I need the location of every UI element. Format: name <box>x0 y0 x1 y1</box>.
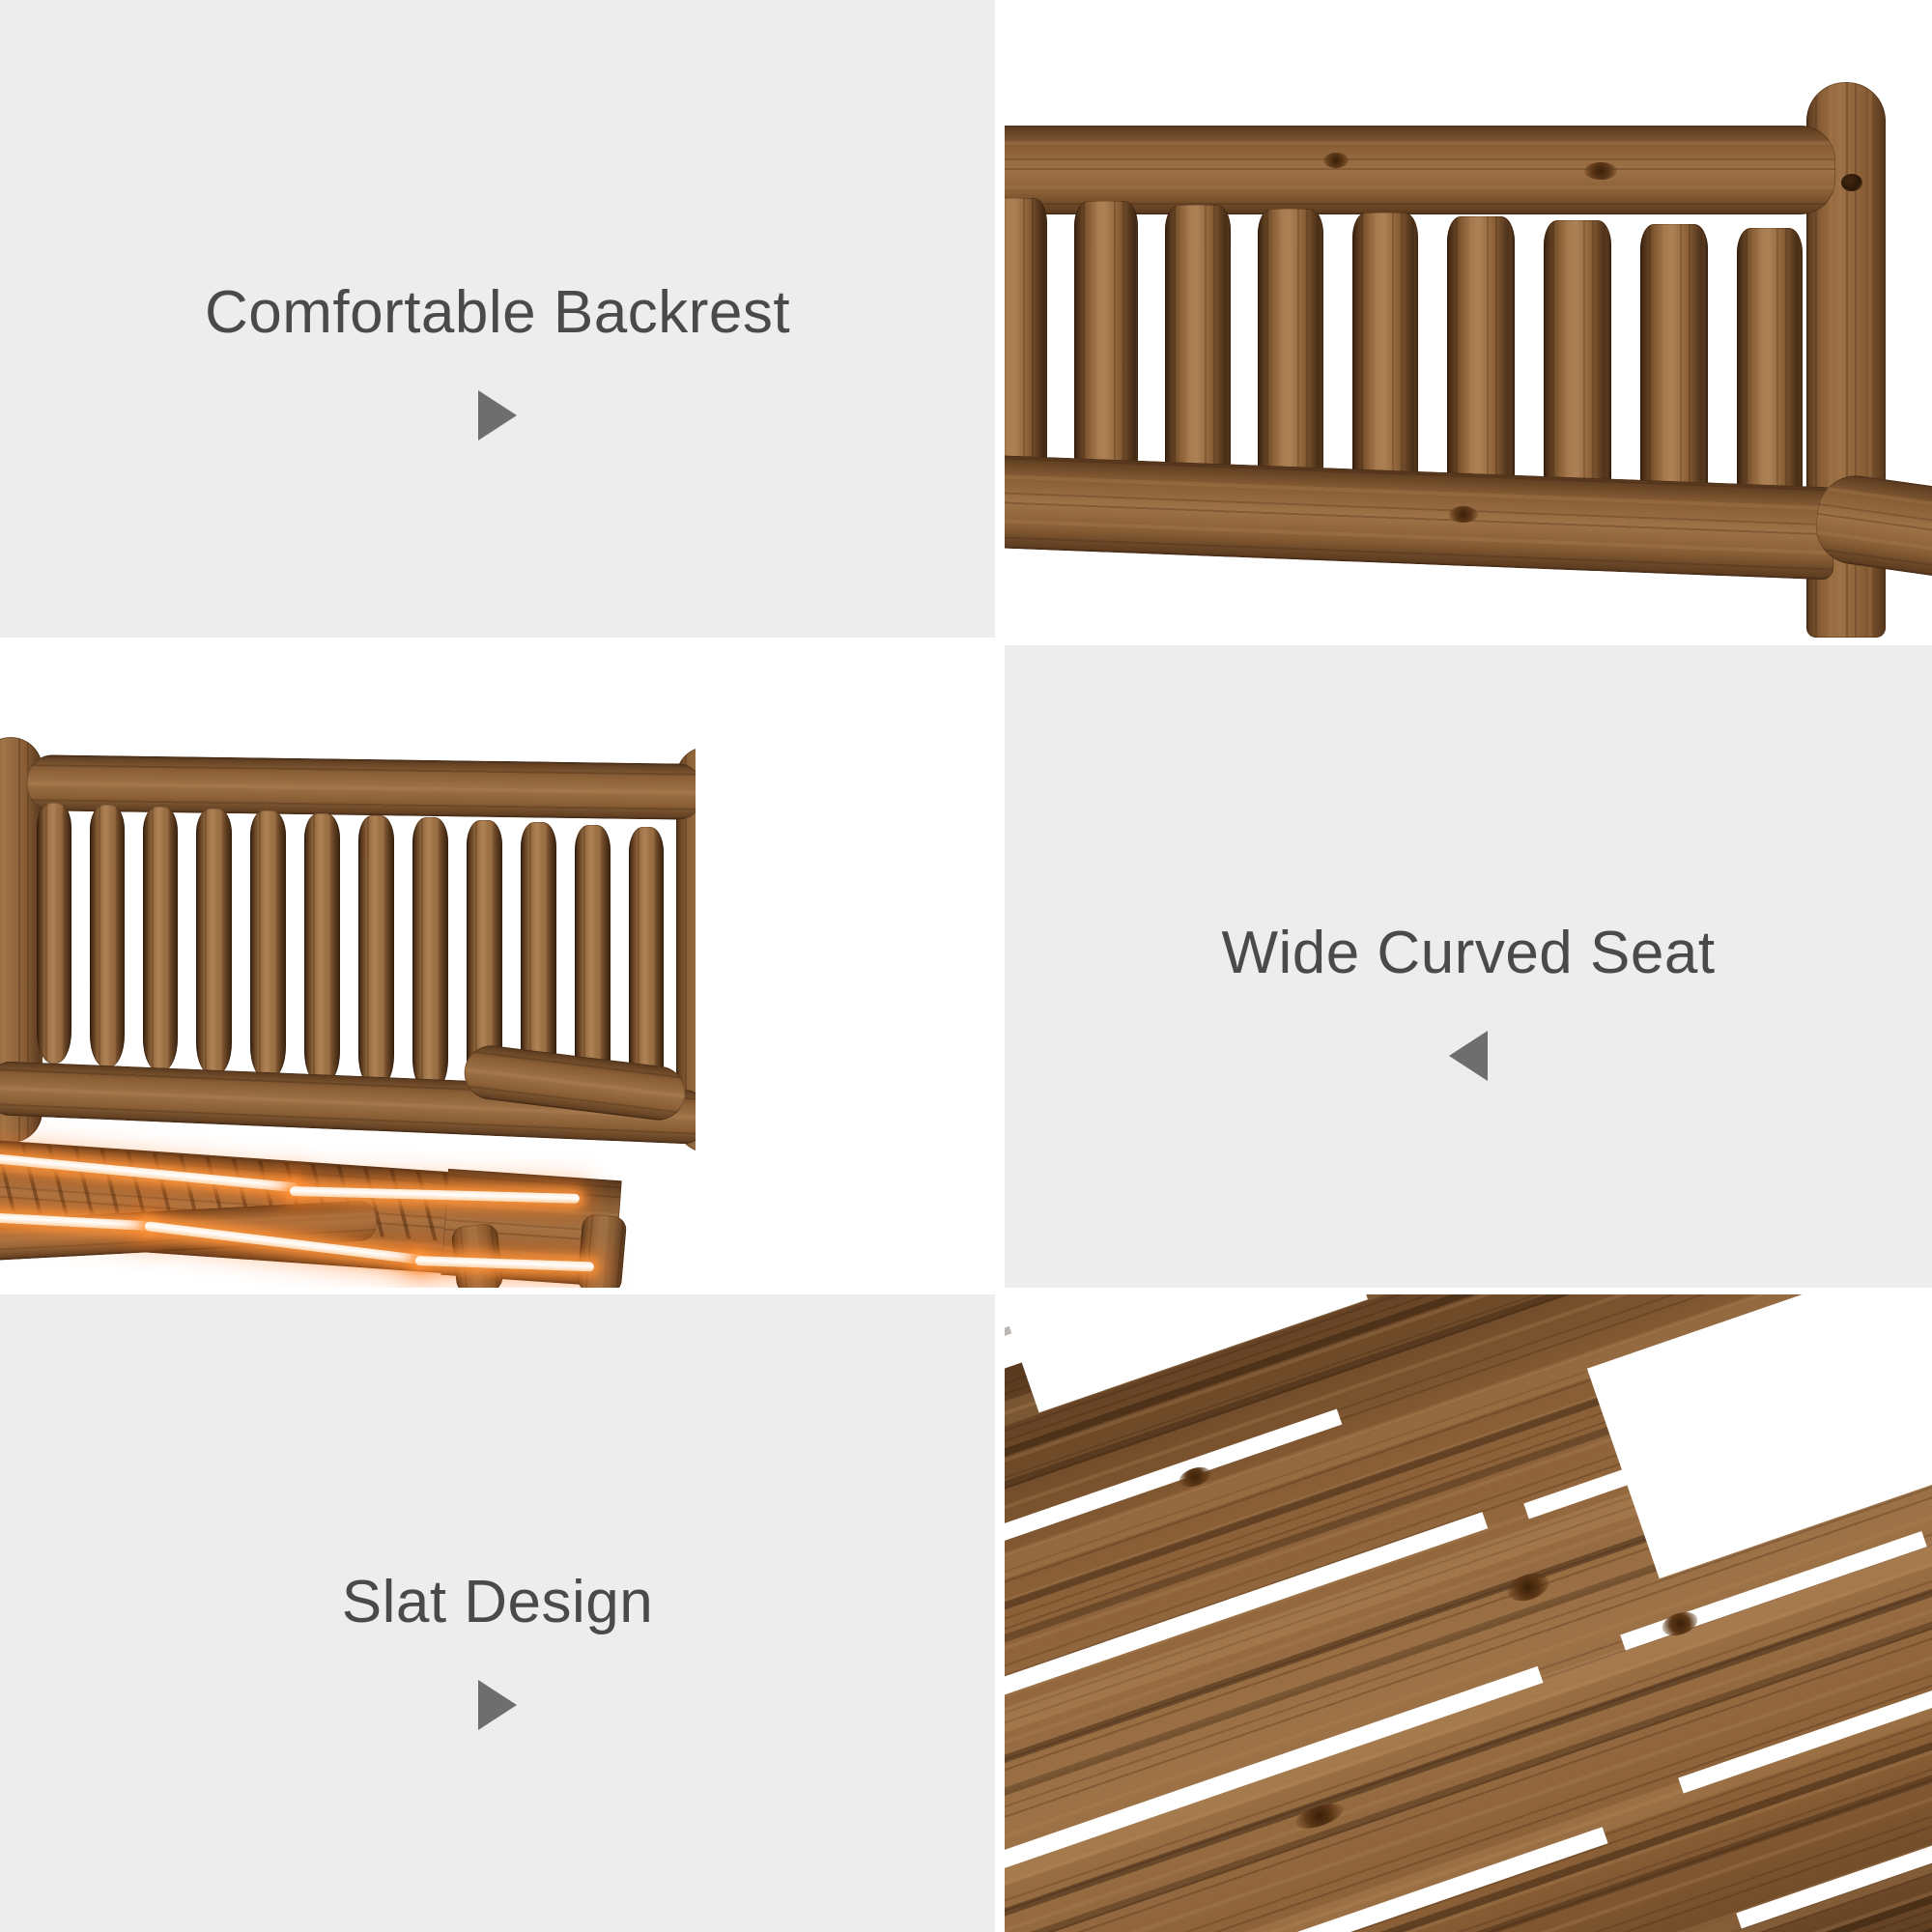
arrow-wide-curved-seat <box>1005 1031 1932 1081</box>
play-triangle-right-icon <box>478 390 517 440</box>
bottom-rail-knot <box>1449 506 1478 523</box>
title-slat-design: Slat Design <box>0 1570 995 1635</box>
bench-spindle <box>1544 220 1611 510</box>
cell-slat-design: Slat Design <box>0 1294 995 1932</box>
play-triangle-left-icon <box>1449 1031 1488 1081</box>
bench-spindle <box>1640 224 1708 514</box>
cell-wide-curved-seat: Wide Curved Seat <box>1005 645 1932 1288</box>
title-wide-curved-seat: Wide Curved Seat <box>1005 921 1932 986</box>
arrow-comfortable-backrest <box>0 390 995 440</box>
play-triangle-right-icon <box>478 1680 517 1730</box>
bench-spindle <box>1165 205 1231 495</box>
bench-bottom-rail <box>1005 454 1836 580</box>
bench-spindle <box>1737 228 1803 518</box>
cell-slat-photo <box>1005 1294 1932 1932</box>
caption-comfortable-backrest: Comfortable Backrest <box>0 280 995 440</box>
bench-spindle <box>196 809 232 1075</box>
bench-spindle <box>1258 209 1323 498</box>
arrow-slat-design <box>0 1680 995 1730</box>
bench-spindle <box>250 810 286 1079</box>
bench-spindle <box>358 815 394 1088</box>
slat-deck <box>1005 1294 1932 1932</box>
cell-bench-photo <box>0 645 696 1288</box>
cell-backrest-photo <box>1005 0 1932 638</box>
rail-knot <box>1323 153 1349 168</box>
caption-slat-design: Slat Design <box>0 1570 995 1730</box>
bench-spindle <box>143 807 178 1071</box>
bench-rear-leg <box>577 1213 628 1288</box>
bench-spindle <box>1352 213 1418 502</box>
bench-front-leg <box>450 1223 503 1288</box>
cell-comfortable-backrest: Comfortable Backrest <box>0 0 995 638</box>
bench-spindle <box>412 817 448 1092</box>
bench-top-rail <box>1005 126 1835 214</box>
bench-top-rail <box>27 754 696 820</box>
bench-spindle <box>304 813 340 1084</box>
bench-spindle <box>1074 201 1138 491</box>
title-comfortable-backrest: Comfortable Backrest <box>0 280 995 346</box>
bench-spindle <box>1447 216 1515 506</box>
caption-wide-curved-seat: Wide Curved Seat <box>1005 921 1932 1081</box>
bench-spindle <box>1005 198 1047 488</box>
post-screw-hole <box>1841 174 1862 191</box>
bench-spindle <box>37 803 71 1064</box>
rail-knot-2 <box>1584 162 1617 180</box>
bench-spindle <box>90 805 125 1067</box>
feature-grid: Comfortable Backrest <box>0 0 1932 1932</box>
